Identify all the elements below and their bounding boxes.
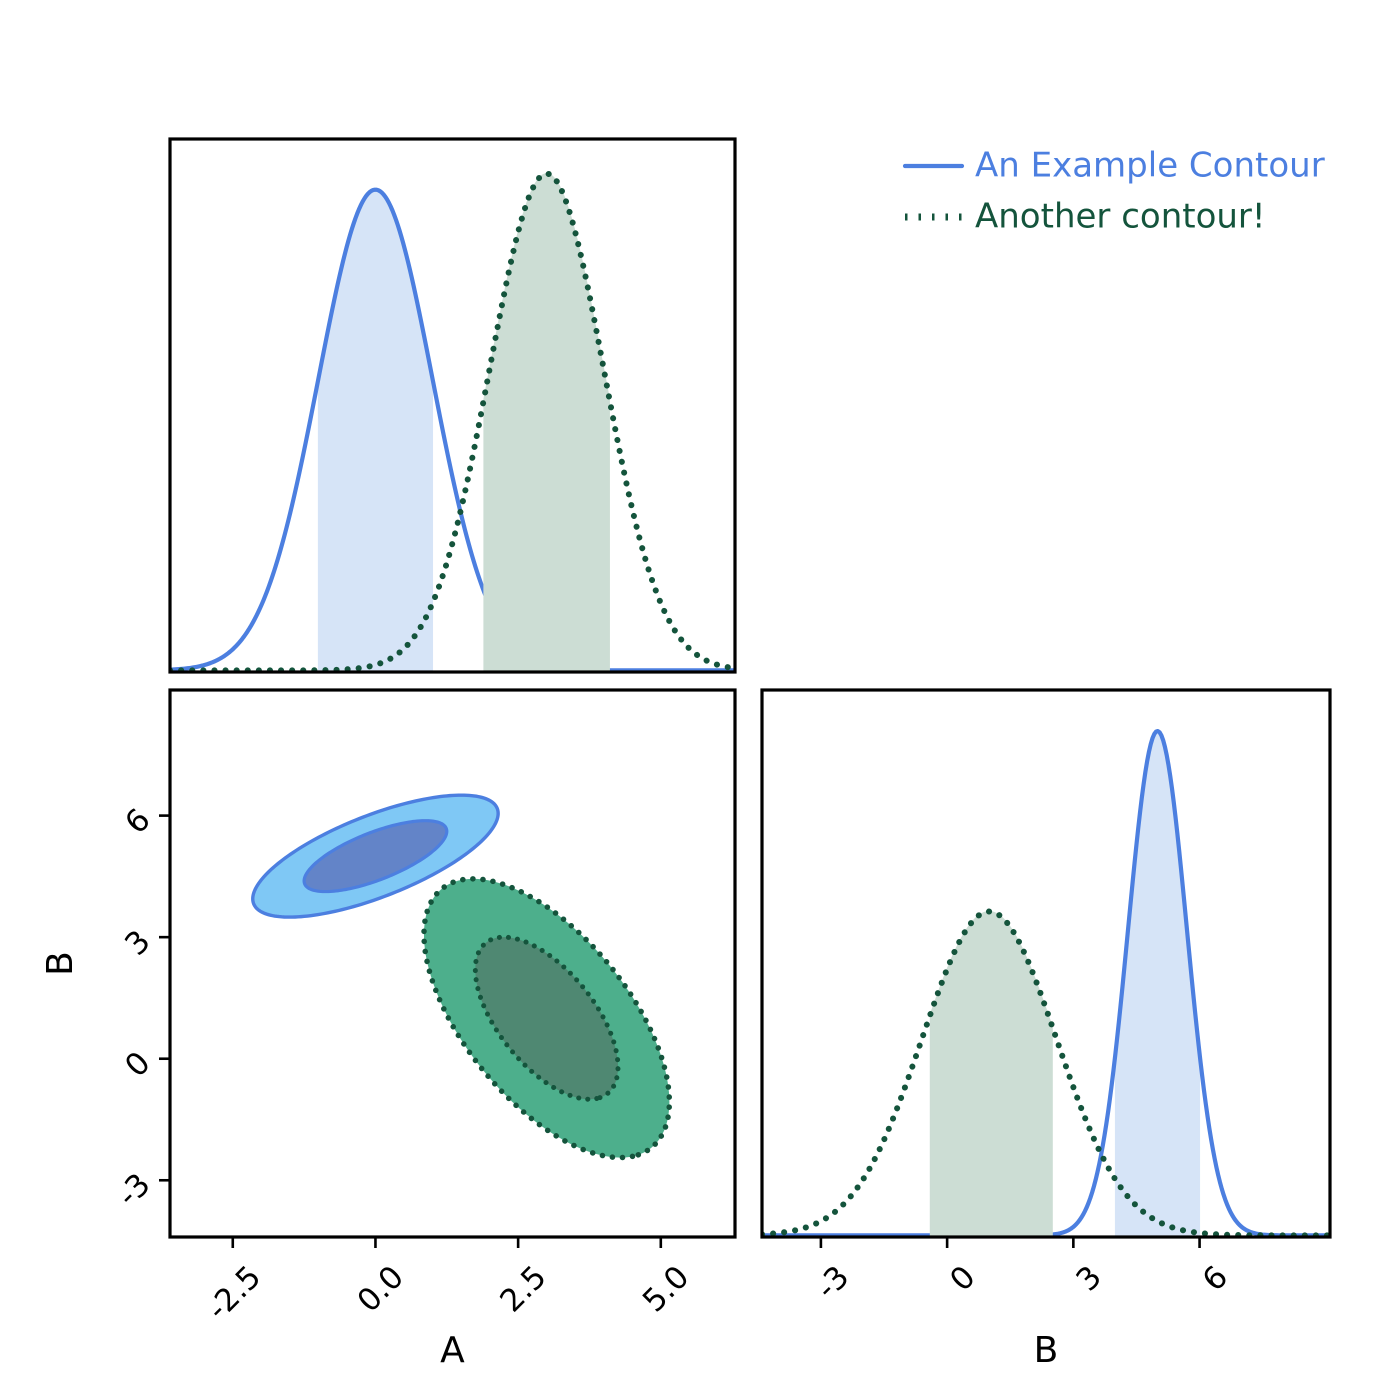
legend-label-0: An Example Contour	[975, 146, 1325, 186]
marginal-a-ci-band-1	[484, 174, 610, 671]
marginal-b-content	[762, 731, 1330, 1235]
panel-marginal-b: -3036	[762, 690, 1330, 1306]
joint-xticklabel: 0.0	[351, 1259, 411, 1319]
legend-label-1: Another contour!	[975, 197, 1266, 237]
joint-yticklabel: 6	[118, 802, 157, 841]
panel-marginal-a	[170, 139, 735, 672]
joint-contour-inner-0	[304, 821, 447, 892]
marginal-b-xticklabel: 0	[943, 1259, 982, 1298]
joint-content	[253, 795, 670, 1157]
corner-plot-figure: -2.50.02.55.0630-3 -3036 An Example Cont…	[0, 0, 1400, 1400]
joint-xticklabel: 5.0	[636, 1259, 696, 1319]
joint-yticklabel: 0	[118, 1045, 157, 1084]
xaxis-label-a: A	[440, 1330, 465, 1371]
marginal-b-ci-band-0	[1115, 731, 1199, 1235]
corner-plot-canvas: -2.50.02.55.0630-3 -3036 An Example Cont…	[0, 0, 1400, 1400]
marginal-a-curve-1	[170, 174, 735, 671]
panel-joint-ab: -2.50.02.55.0630-3	[110, 690, 735, 1327]
joint-xticklabel: 2.5	[493, 1259, 553, 1319]
marginal-a-curve-0	[170, 190, 735, 671]
marginal-a-ci-band-0	[318, 190, 432, 671]
joint-yticklabel: -3	[110, 1166, 157, 1213]
joint-yticklabel: 3	[118, 923, 157, 962]
legend: An Example ContourAnother contour!	[905, 146, 1325, 237]
marginal-b-xticklabel: 3	[1069, 1259, 1108, 1298]
marginal-a-frame	[170, 139, 735, 672]
marginal-b-xticklabel: 6	[1196, 1259, 1235, 1298]
yaxis-label-b: B	[40, 951, 81, 976]
xaxis-label-b: B	[1034, 1330, 1059, 1371]
marginal-b-xticklabel: -3	[809, 1259, 856, 1306]
joint-xticklabel: -2.5	[200, 1259, 268, 1327]
marginal-a-content	[170, 174, 735, 671]
